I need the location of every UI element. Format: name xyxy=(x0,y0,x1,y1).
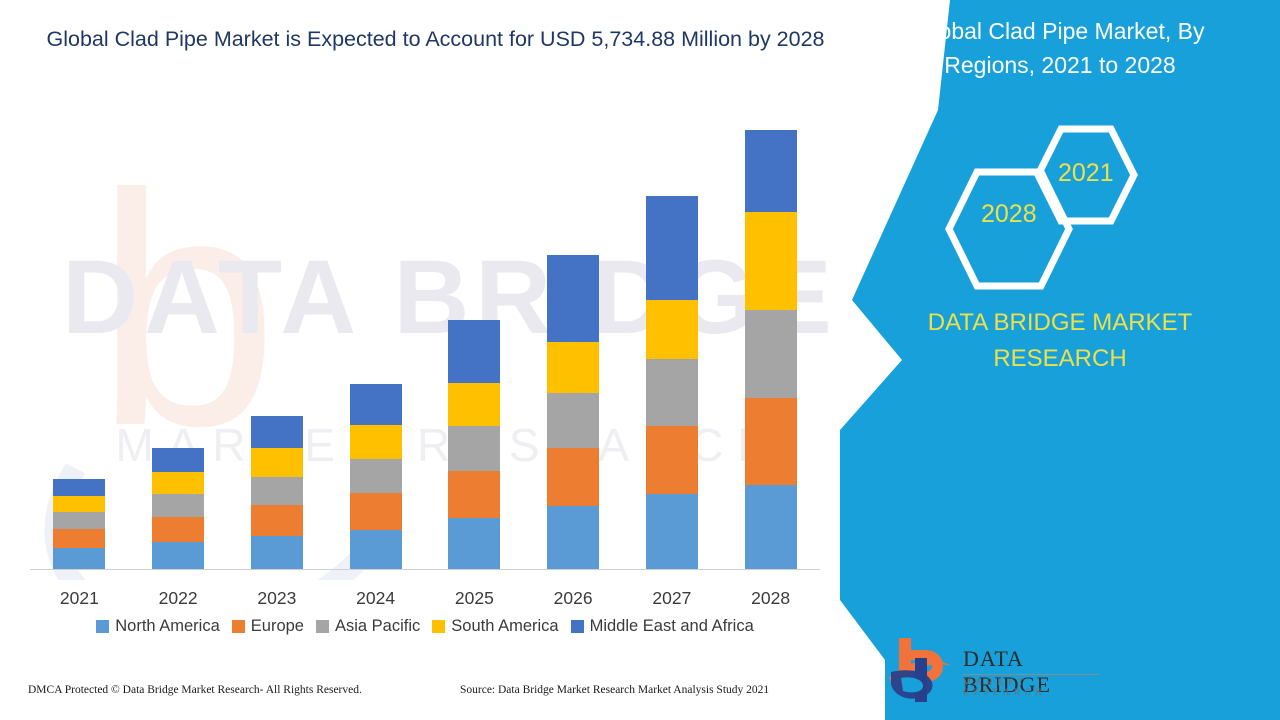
bar-segment xyxy=(547,255,599,341)
bar-segment xyxy=(547,342,599,393)
x-tick-label: 2026 xyxy=(524,588,623,609)
bar-segment xyxy=(251,477,303,505)
bar-segment xyxy=(350,459,402,493)
bar-segment xyxy=(745,398,797,485)
right-panel: Global Clad Pipe Market, By Regions, 202… xyxy=(840,0,1280,720)
bar-segment xyxy=(350,384,402,424)
bar-segment xyxy=(53,548,105,569)
chart-legend: North AmericaEuropeAsia PacificSouth Ame… xyxy=(30,617,820,636)
stacked-bar[interactable] xyxy=(646,196,698,569)
legend-item[interactable]: Europe xyxy=(232,617,304,636)
bar-segment xyxy=(745,212,797,310)
hexagon-2021-label: 2021 xyxy=(1058,159,1114,188)
bar-segment xyxy=(646,359,698,425)
legend-item[interactable]: Asia Pacific xyxy=(316,617,420,636)
bar-segment xyxy=(251,448,303,476)
bar-segment xyxy=(251,505,303,536)
stacked-bar[interactable] xyxy=(251,416,303,569)
legend-swatch xyxy=(232,620,245,633)
bar-segment xyxy=(53,529,105,548)
bar-segment xyxy=(646,196,698,300)
x-tick-label: 2027 xyxy=(623,588,722,609)
bar-segment xyxy=(745,130,797,212)
legend-label: Europe xyxy=(251,617,304,636)
stacked-bar[interactable] xyxy=(547,255,599,569)
stacked-bar[interactable] xyxy=(53,479,105,569)
bar-group xyxy=(129,130,228,569)
bar-segment xyxy=(547,448,599,506)
bar-segment xyxy=(547,393,599,449)
bar-segment xyxy=(53,496,105,513)
legend-label: Middle East and Africa xyxy=(590,617,754,636)
hexagon-2028-label: 2028 xyxy=(981,200,1037,229)
bar-group xyxy=(228,130,327,569)
legend-swatch xyxy=(316,620,329,633)
x-tick-label: 2024 xyxy=(326,588,425,609)
page-title: Global Clad Pipe Market is Expected to A… xyxy=(18,22,853,56)
footer-copyright: DMCA Protected © Data Bridge Market Rese… xyxy=(28,684,362,696)
legend-item[interactable]: North America xyxy=(96,617,220,636)
legend-label: Asia Pacific xyxy=(335,617,420,636)
legend-item[interactable]: South America xyxy=(432,617,558,636)
x-tick-label: 2025 xyxy=(425,588,524,609)
logo-divider xyxy=(963,674,1099,675)
bar-group xyxy=(30,130,129,569)
right-panel-title: Global Clad Pipe Market, By Regions, 202… xyxy=(840,14,1280,82)
logo-tagline: MARKET RESEARCH xyxy=(963,677,1105,697)
bar-segment xyxy=(646,494,698,569)
bar-segment xyxy=(350,493,402,530)
x-axis-tick-labels: 20212022202320242025202620272028 xyxy=(30,588,820,609)
stacked-bar[interactable] xyxy=(152,448,204,569)
legend-swatch xyxy=(432,620,445,633)
x-tick-label: 2021 xyxy=(30,588,129,609)
logo-mark-icon xyxy=(885,632,957,704)
stacked-bar[interactable] xyxy=(448,320,500,569)
bar-segment xyxy=(448,471,500,518)
brand-title: DATA BRIDGE MARKET RESEARCH xyxy=(840,305,1280,377)
bar-segment xyxy=(53,479,105,496)
x-tick-label: 2023 xyxy=(228,588,327,609)
bar-segment xyxy=(251,416,303,448)
footer-source: Source: Data Bridge Market Research Mark… xyxy=(460,684,769,696)
stacked-bar[interactable] xyxy=(745,130,797,569)
bar-segment xyxy=(152,517,204,542)
bar-segment xyxy=(152,542,204,569)
bar-segment xyxy=(152,494,204,517)
hexagon-group: 2028 2021 xyxy=(840,140,1280,290)
bar-group xyxy=(425,130,524,569)
bar-segment xyxy=(350,425,402,459)
x-tick-label: 2028 xyxy=(721,588,820,609)
legend-item[interactable]: Middle East and Africa xyxy=(571,617,754,636)
bar-group xyxy=(721,130,820,569)
bar-group xyxy=(524,130,623,569)
chart-bars xyxy=(30,130,820,569)
bar-segment xyxy=(251,536,303,569)
bar-group xyxy=(623,130,722,569)
bar-segment xyxy=(745,485,797,569)
bar-segment xyxy=(152,448,204,472)
bar-segment xyxy=(53,512,105,529)
bar-segment xyxy=(350,530,402,569)
bar-segment xyxy=(448,426,500,471)
legend-label: North America xyxy=(115,617,220,636)
bar-group xyxy=(326,130,425,569)
bar-segment xyxy=(152,472,204,495)
x-axis-line xyxy=(30,569,820,570)
bar-segment xyxy=(646,426,698,495)
infographic-root: b DATA BRIDGE MARKET RESEARCH Global Cla… xyxy=(0,0,1280,720)
legend-label: South America xyxy=(451,617,558,636)
bar-segment xyxy=(448,383,500,426)
stacked-bar[interactable] xyxy=(350,384,402,569)
bar-segment xyxy=(646,300,698,359)
bar-segment xyxy=(448,518,500,569)
bar-segment xyxy=(448,320,500,383)
legend-swatch xyxy=(96,620,109,633)
databridge-logo: DATA BRIDGE MARKET RESEARCH xyxy=(885,632,1105,706)
bar-segment xyxy=(547,506,599,569)
x-tick-label: 2022 xyxy=(129,588,228,609)
legend-swatch xyxy=(571,620,584,633)
chart-plot-area xyxy=(30,130,820,570)
bar-segment xyxy=(745,310,797,397)
